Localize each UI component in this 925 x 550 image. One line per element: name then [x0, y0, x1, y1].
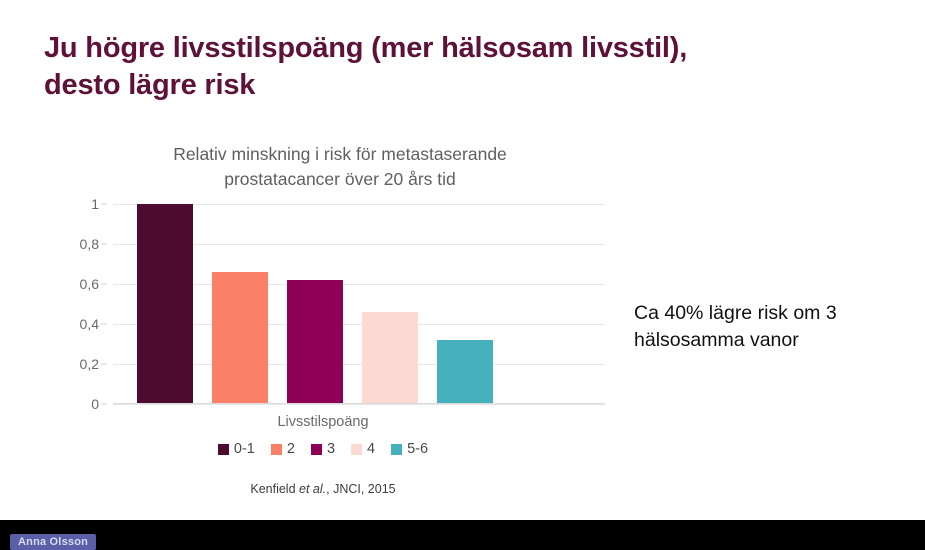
- y-axis: 00,20,40,60,81: [55, 204, 107, 404]
- chart-title-line-1: Relativ minskning i risk för metastasera…: [75, 142, 605, 167]
- bar-2: [212, 272, 268, 404]
- source-rest: , JNCI, 2015: [326, 482, 395, 496]
- source-citation: Kenfield et al., JNCI, 2015: [113, 482, 533, 496]
- bar-0-1: [137, 204, 193, 404]
- page-title: Ju högre livsstilspoäng (mer hälsosam li…: [44, 30, 864, 104]
- legend-swatch-icon: [218, 444, 229, 455]
- y-axis-tick-label: 0,4: [80, 316, 99, 332]
- legend-label: 0-1: [234, 442, 255, 457]
- callout-line-2: hälsosamma vanor: [634, 327, 896, 354]
- gridline: [113, 404, 605, 405]
- source-author: Kenfield: [250, 482, 295, 496]
- chart-title-line-2: prostatacancer över 20 års tid: [75, 167, 605, 192]
- chart-legend: 0-12345-6: [113, 442, 533, 457]
- bar-series: [113, 204, 605, 404]
- bar-chart: Relativ minskning i risk för metastasera…: [55, 142, 615, 517]
- callout-line-1: Ca 40% lägre risk om 3: [634, 300, 896, 327]
- y-axis-tick-label: 0: [91, 396, 99, 412]
- source-etal: et al.: [299, 482, 326, 496]
- y-axis-tick-label: 0,2: [80, 356, 99, 372]
- bottom-strip: [0, 520, 925, 544]
- y-axis-tick-mark: [101, 284, 107, 285]
- x-axis-label: Livsstilspoäng: [113, 414, 533, 430]
- y-axis-tick-mark: [101, 244, 107, 245]
- bar-5-6: [437, 340, 493, 404]
- y-axis-tick-mark: [101, 324, 107, 325]
- legend-swatch-icon: [271, 444, 282, 455]
- legend-swatch-icon: [311, 444, 322, 455]
- legend-swatch-icon: [391, 444, 402, 455]
- legend-label: 2: [287, 442, 295, 457]
- legend-swatch-icon: [351, 444, 362, 455]
- axis-baseline: [113, 403, 605, 404]
- legend-item-2[interactable]: 2: [271, 442, 295, 457]
- chart-title: Relativ minskning i risk för metastasera…: [75, 142, 605, 193]
- y-axis-tick-label: 1: [91, 196, 99, 212]
- callout-text: Ca 40% lägre risk om 3 hälsosamma vanor: [634, 300, 896, 354]
- y-axis-tick-mark: [101, 404, 107, 405]
- y-axis-tick-mark: [101, 204, 107, 205]
- plot-area: [113, 204, 605, 404]
- page-title-line-2: desto lägre risk: [44, 67, 864, 104]
- legend-item-5-6[interactable]: 5-6: [391, 442, 428, 457]
- y-axis-tick-mark: [101, 364, 107, 365]
- legend-item-4[interactable]: 4: [351, 442, 375, 457]
- page-title-line-1: Ju högre livsstilspoäng (mer hälsosam li…: [44, 30, 864, 67]
- legend-label: 5-6: [407, 442, 428, 457]
- legend-label: 3: [327, 442, 335, 457]
- presenter-name-badge: Anna Olsson: [10, 534, 96, 550]
- presentation-slide: Ju högre livsstilspoäng (mer hälsosam li…: [0, 0, 925, 520]
- bar-4: [362, 312, 418, 404]
- legend-label: 4: [367, 442, 375, 457]
- y-axis-tick-label: 0,8: [80, 236, 99, 252]
- y-axis-tick-label: 0,6: [80, 276, 99, 292]
- bar-3: [287, 280, 343, 404]
- legend-item-3[interactable]: 3: [311, 442, 335, 457]
- plot-wrapper: 00,20,40,60,81: [55, 204, 615, 404]
- legend-item-0-1[interactable]: 0-1: [218, 442, 255, 457]
